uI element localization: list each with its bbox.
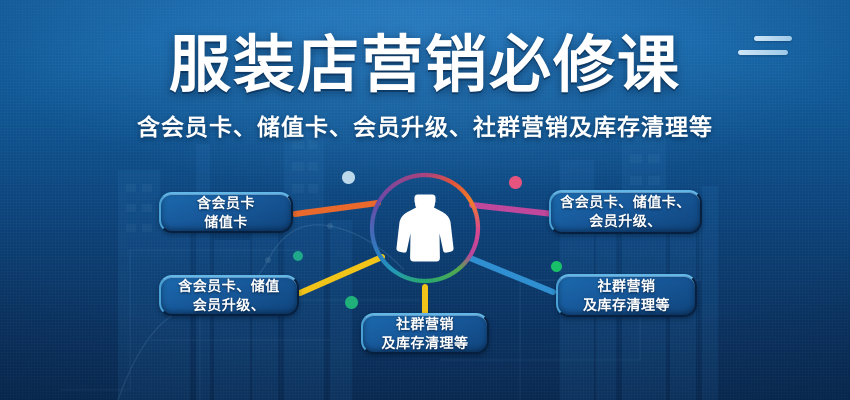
accent-dot-light-blue xyxy=(342,171,355,184)
label-line-2: 储值卡 xyxy=(197,213,255,232)
label-membership-upgrade-left[interactable]: 含会员卡、储值 会员升级、 xyxy=(159,275,299,316)
label-line-1: 社群营销 xyxy=(583,277,670,296)
hub-ring xyxy=(366,169,484,287)
label-inventory-clearance-right[interactable]: 社群营销 及库存清理等 xyxy=(556,274,697,317)
headline-block: 服装店营销必修课 含会员卡、储值卡、会员升级、社群营销及库存清理等 xyxy=(0,34,850,142)
decorative-dashes xyxy=(738,36,792,55)
decorative-dash-bottom xyxy=(738,50,788,55)
decorative-dash-top xyxy=(754,36,792,41)
accent-dot-pink xyxy=(509,176,522,189)
label-line-2: 会员升级、 xyxy=(560,212,691,231)
page-title: 服装店营销必修课 xyxy=(0,34,850,97)
label-line-2: 及库存清理等 xyxy=(382,334,469,353)
label-line-1: 含会员卡 xyxy=(197,194,255,213)
accent-dot-green-right xyxy=(551,261,562,272)
accent-dot-teal xyxy=(293,251,303,261)
label-line-2: 会员升级、 xyxy=(178,296,280,315)
label-line-2: 及库存清理等 xyxy=(583,296,670,315)
label-line-1: 含会员卡、储值 xyxy=(178,277,280,296)
label-line-1: 含会员卡、储值卡、 xyxy=(560,193,691,212)
accent-dot-green xyxy=(345,296,358,309)
clothing-shirt-icon xyxy=(395,190,455,266)
label-membership-card[interactable]: 含会员卡 储值卡 xyxy=(159,192,293,233)
connector-line-magenta xyxy=(472,205,553,214)
label-line-1: 社群营销 xyxy=(382,315,469,334)
marketing-banner: 服装店营销必修课 含会员卡、储值卡、会员升级、社群营销及库存清理等 xyxy=(0,0,850,400)
page-subtitle: 含会员卡、储值卡、会员升级、社群营销及库存清理等 xyxy=(0,108,850,142)
label-membership-upgrade-right[interactable]: 含会员卡、储值卡、 会员升级、 xyxy=(549,190,702,234)
label-community-marketing-bottom[interactable]: 社群营销 及库存清理等 xyxy=(361,313,489,354)
